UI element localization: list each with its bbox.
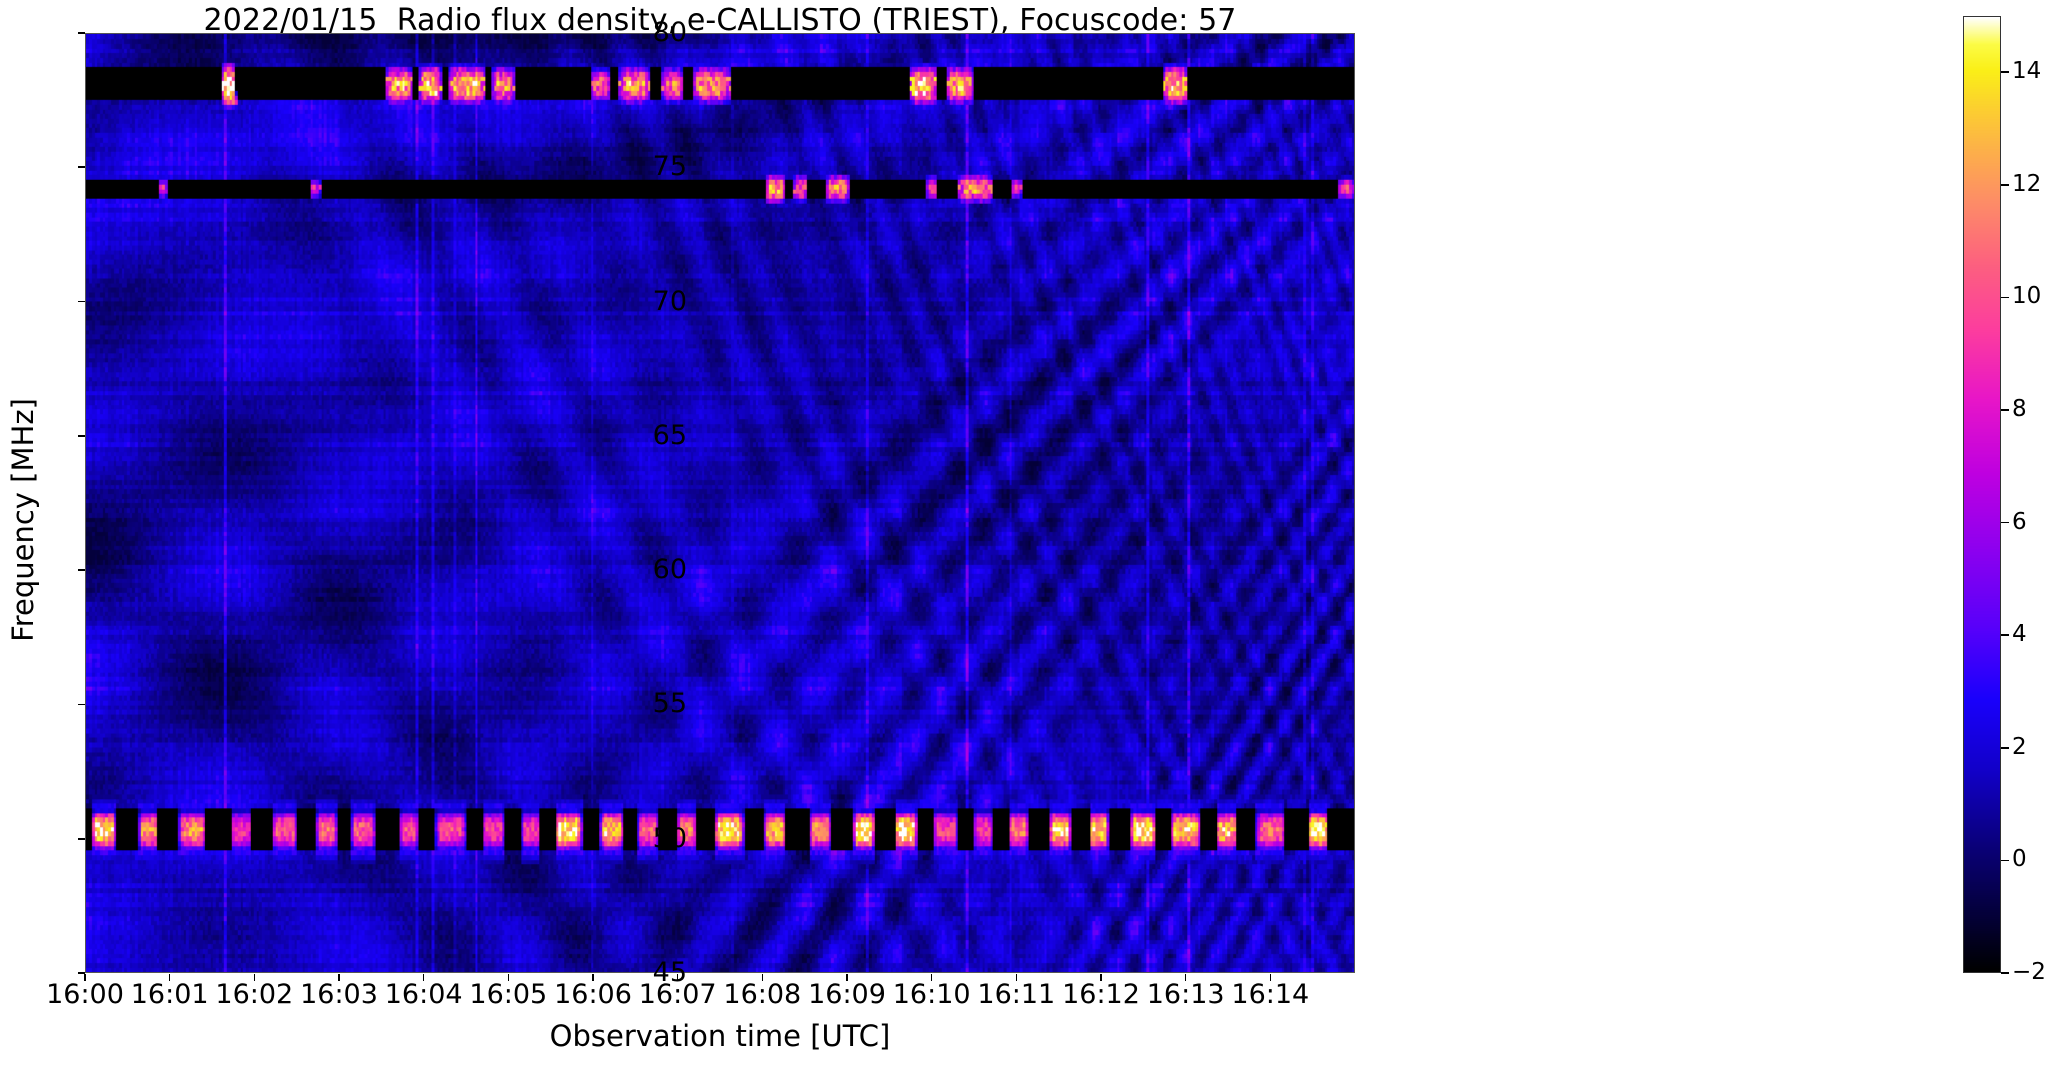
colorbar-tick-mark [2001,747,2009,749]
colorbar-tick-mark [2001,972,2009,974]
colorbar-tick-label: 0 [2012,848,2027,871]
y-tick-label: 65 [387,422,687,449]
colorbar-tick-label: 14 [2012,60,2041,83]
colorbar-tick-mark [2001,860,2009,862]
colorbar-gradient [1964,17,2000,972]
spectrogram-image [86,34,1354,972]
y-tick-label: 55 [387,690,687,717]
colorbar-tick-mark [2001,522,2009,524]
colorbar-tick-label: 8 [2012,398,2027,421]
colorbar-tick-label: −2 [2012,961,2046,984]
x-tick-mark [254,974,256,981]
y-tick-mark [78,301,85,303]
y-tick-mark [78,32,85,34]
x-tick-mark [338,974,340,981]
y-tick-label: 80 [387,19,687,46]
y-tick-mark [78,166,85,168]
x-tick-mark [508,974,510,981]
y-tick-mark [78,569,85,571]
y-axis-label: Frequency [MHz] [6,50,40,990]
y-tick-mark [78,435,85,437]
x-tick-mark [592,974,594,981]
colorbar-tick-mark [2001,634,2009,636]
colorbar-tick-mark [2001,184,2009,186]
colorbar-tick-label: 2 [2012,736,2027,759]
colorbar-tick-label: 10 [2012,285,2041,308]
spectrogram-figure: 2022/01/15 Radio flux density, e-CALLIST… [0,0,2047,1067]
x-tick-mark [1100,974,1102,981]
x-tick-mark [931,974,933,981]
y-tick-label: 75 [387,153,687,180]
x-tick-mark [762,974,764,981]
x-tick-mark [677,974,679,981]
y-tick-mark [78,838,85,840]
colorbar [1963,16,2001,973]
x-tick-label: 16:14 [1170,981,1370,1008]
x-axis-label: Observation time [UTC] [85,1019,1355,1053]
y-tick-label: 70 [387,288,687,315]
y-tick-label: 60 [387,556,687,583]
x-tick-mark [846,974,848,981]
x-tick-mark [1016,974,1018,981]
x-tick-mark [84,974,86,981]
x-tick-mark [423,974,425,981]
colorbar-tick-mark [2001,297,2009,299]
colorbar-tick-mark [2001,71,2009,73]
colorbar-tick-label: 12 [2012,173,2041,196]
y-tick-label: 50 [387,825,687,852]
y-tick-mark [78,704,85,706]
x-tick-mark [1185,974,1187,981]
x-tick-mark [169,974,171,981]
colorbar-tick-label: 4 [2012,623,2027,646]
colorbar-tick-mark [2001,409,2009,411]
x-tick-mark [1270,974,1272,981]
colorbar-tick-label: 6 [2012,511,2027,534]
spectrogram-plot-area [85,33,1355,973]
